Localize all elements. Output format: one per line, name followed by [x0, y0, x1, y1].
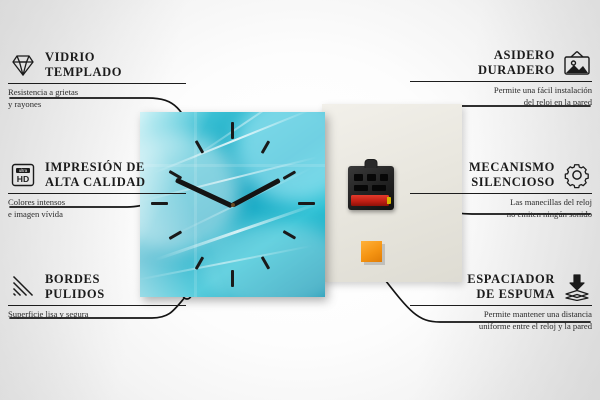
feature-vidrio-templado: VIDRIO TEMPLADO Resistencia a grietas y … — [8, 50, 186, 110]
polished-edges-icon — [8, 272, 38, 302]
diamond-icon — [8, 50, 38, 80]
feature-bordes-pulidos: BORDES PULIDOS Superficie lisa y segura — [8, 272, 186, 321]
hour-marker-12 — [231, 122, 234, 139]
feature-title: ASIDERO DURADERO — [478, 48, 555, 78]
feature-title: VIDRIO TEMPLADO — [45, 50, 122, 80]
feature-title: BORDES PULIDOS — [45, 272, 105, 302]
ultra-hd-icon: ultra HD — [8, 160, 38, 190]
feature-description: Resistencia a grietas y rayones — [8, 87, 186, 110]
feature-title: MECANISMO SILENCIOSO — [469, 160, 555, 190]
feature-header: MECANISMO SILENCIOSO — [410, 160, 592, 190]
gear-icon — [562, 160, 592, 190]
mechanism-slot — [367, 174, 376, 181]
feature-asidero-duradero: ASIDERO DURADERO Permite una fácil insta… — [410, 48, 592, 108]
clock-mechanism — [348, 166, 394, 210]
feature-impresion-alta-calidad: ultra HD IMPRESIÓN DE ALTA CALIDAD Color… — [8, 160, 186, 220]
hour-marker-6 — [231, 270, 234, 287]
feature-header: BORDES PULIDOS — [8, 272, 186, 302]
foam-spacer-piece — [361, 241, 382, 262]
feature-description: Permite mantener una distancia uniforme … — [410, 309, 592, 332]
feature-header: ultra HD IMPRESIÓN DE ALTA CALIDAD — [8, 160, 186, 190]
svg-text:ultra: ultra — [19, 168, 28, 173]
feature-header: ESPACIADOR DE ESPUMA — [410, 272, 592, 302]
feature-title: ESPACIADOR DE ESPUMA — [467, 272, 555, 302]
feature-description: Permite una fácil instalación del reloj … — [410, 85, 592, 108]
feature-title: IMPRESIÓN DE ALTA CALIDAD — [45, 160, 146, 190]
infographic-canvas: VIDRIO TEMPLADO Resistencia a grietas y … — [0, 0, 600, 400]
battery-positive-cap — [387, 197, 391, 204]
feature-description: Colores intensos e imagen vívida — [8, 197, 186, 220]
mechanism-slot — [380, 174, 388, 181]
feature-description: Las manecillas del reloj no emiten ningú… — [410, 197, 592, 220]
clock-center-pivot — [231, 203, 235, 207]
mechanism-slot — [354, 174, 363, 181]
feature-mecanismo-silencioso: MECANISMO SILENCIOSO Las manecillas del … — [410, 160, 592, 220]
foam-spacer-arrow-icon — [562, 272, 592, 302]
hour-marker-3 — [298, 202, 315, 205]
clock-battery — [351, 195, 389, 206]
divider — [8, 83, 186, 84]
mechanism-slot — [354, 185, 368, 191]
divider — [8, 193, 186, 194]
divider — [410, 81, 592, 82]
mechanism-slot — [372, 185, 386, 191]
feature-header: VIDRIO TEMPLADO — [8, 50, 186, 80]
divider — [410, 193, 592, 194]
feature-description: Superficie lisa y segura — [8, 309, 186, 321]
feature-header: ASIDERO DURADERO — [410, 48, 592, 78]
mechanism-shaft — [365, 159, 378, 168]
wall-hanger-frame-icon — [562, 48, 592, 78]
divider — [410, 305, 592, 306]
feature-espaciador-de-espuma: ESPACIADOR DE ESPUMA Permite mantener un… — [410, 272, 592, 332]
divider — [8, 305, 186, 306]
svg-text:HD: HD — [17, 174, 29, 184]
